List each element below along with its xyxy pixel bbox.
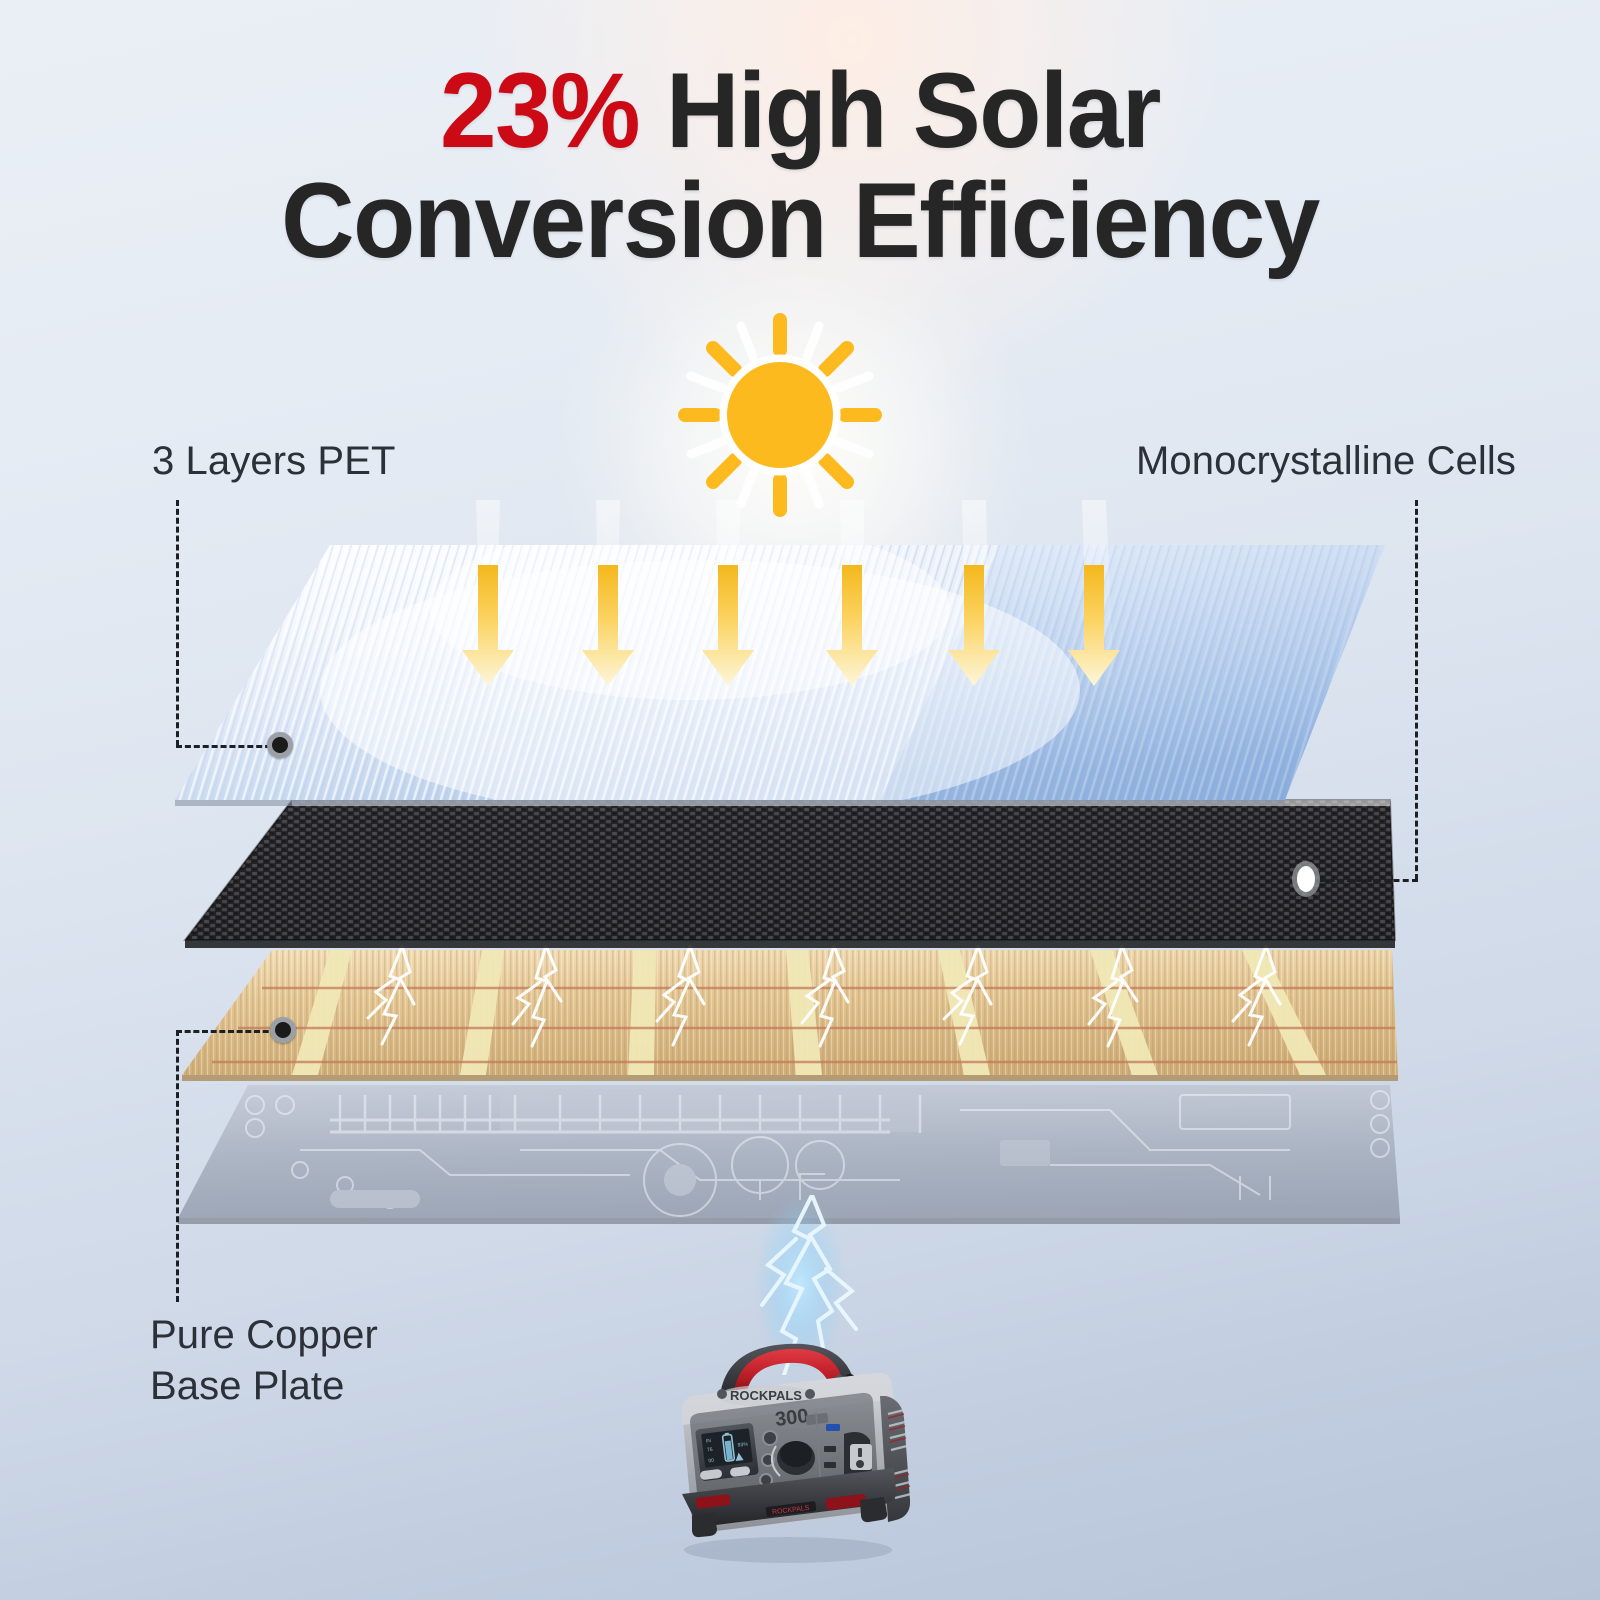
leader-line-pet-horizontal (176, 745, 280, 748)
leader-line-pet-vertical (176, 500, 179, 746)
callout-label-base-line2: Base Plate (150, 1361, 378, 1412)
battery-status-display: IN 76 00 93% (695, 1423, 759, 1482)
callout-label-base-line1: Pure Copper (150, 1310, 378, 1361)
dark-dot-marker-pet (267, 732, 293, 758)
callout-label-mono: Monocrystalline Cells (1136, 436, 1516, 487)
brand-name: ROCKPALS (730, 1388, 802, 1403)
station-body: ROCKPALS IN 76 00 93% 300 (682, 1373, 911, 1537)
headline-line-1: 23% High Solar (40, 55, 1560, 165)
callout-label-pet: 3 Layers PET (152, 436, 396, 487)
efficiency-percent: 23% (440, 50, 639, 170)
headline-block: 23% High Solar Conversion Efficiency (0, 55, 1600, 275)
cell-layer (185, 800, 1395, 948)
leader-line-base-vertical (176, 1030, 179, 1302)
dark-dot-marker-base (270, 1017, 296, 1043)
svg-text:93%: 93% (737, 1441, 748, 1448)
portable-power-station: ROCKPALS IN 76 00 93% 300 (648, 1318, 928, 1568)
leader-line-mono-horizontal (1310, 879, 1418, 882)
headline-line-1-rest: High Solar (639, 50, 1160, 170)
svg-text:00: 00 (708, 1458, 714, 1465)
sun-icon (665, 300, 895, 530)
light-dot-marker-mono (1297, 866, 1315, 892)
leader-line-mono-vertical (1415, 500, 1418, 880)
copper-layer (182, 946, 1398, 1081)
callout-label-base: Pure Copper Base Plate (150, 1310, 378, 1412)
svg-text:76: 76 (707, 1447, 713, 1454)
headline-line-2: Conversion Efficiency (40, 165, 1560, 275)
svg-text:300: 300 (774, 1405, 810, 1431)
pet-layer (175, 520, 1385, 820)
